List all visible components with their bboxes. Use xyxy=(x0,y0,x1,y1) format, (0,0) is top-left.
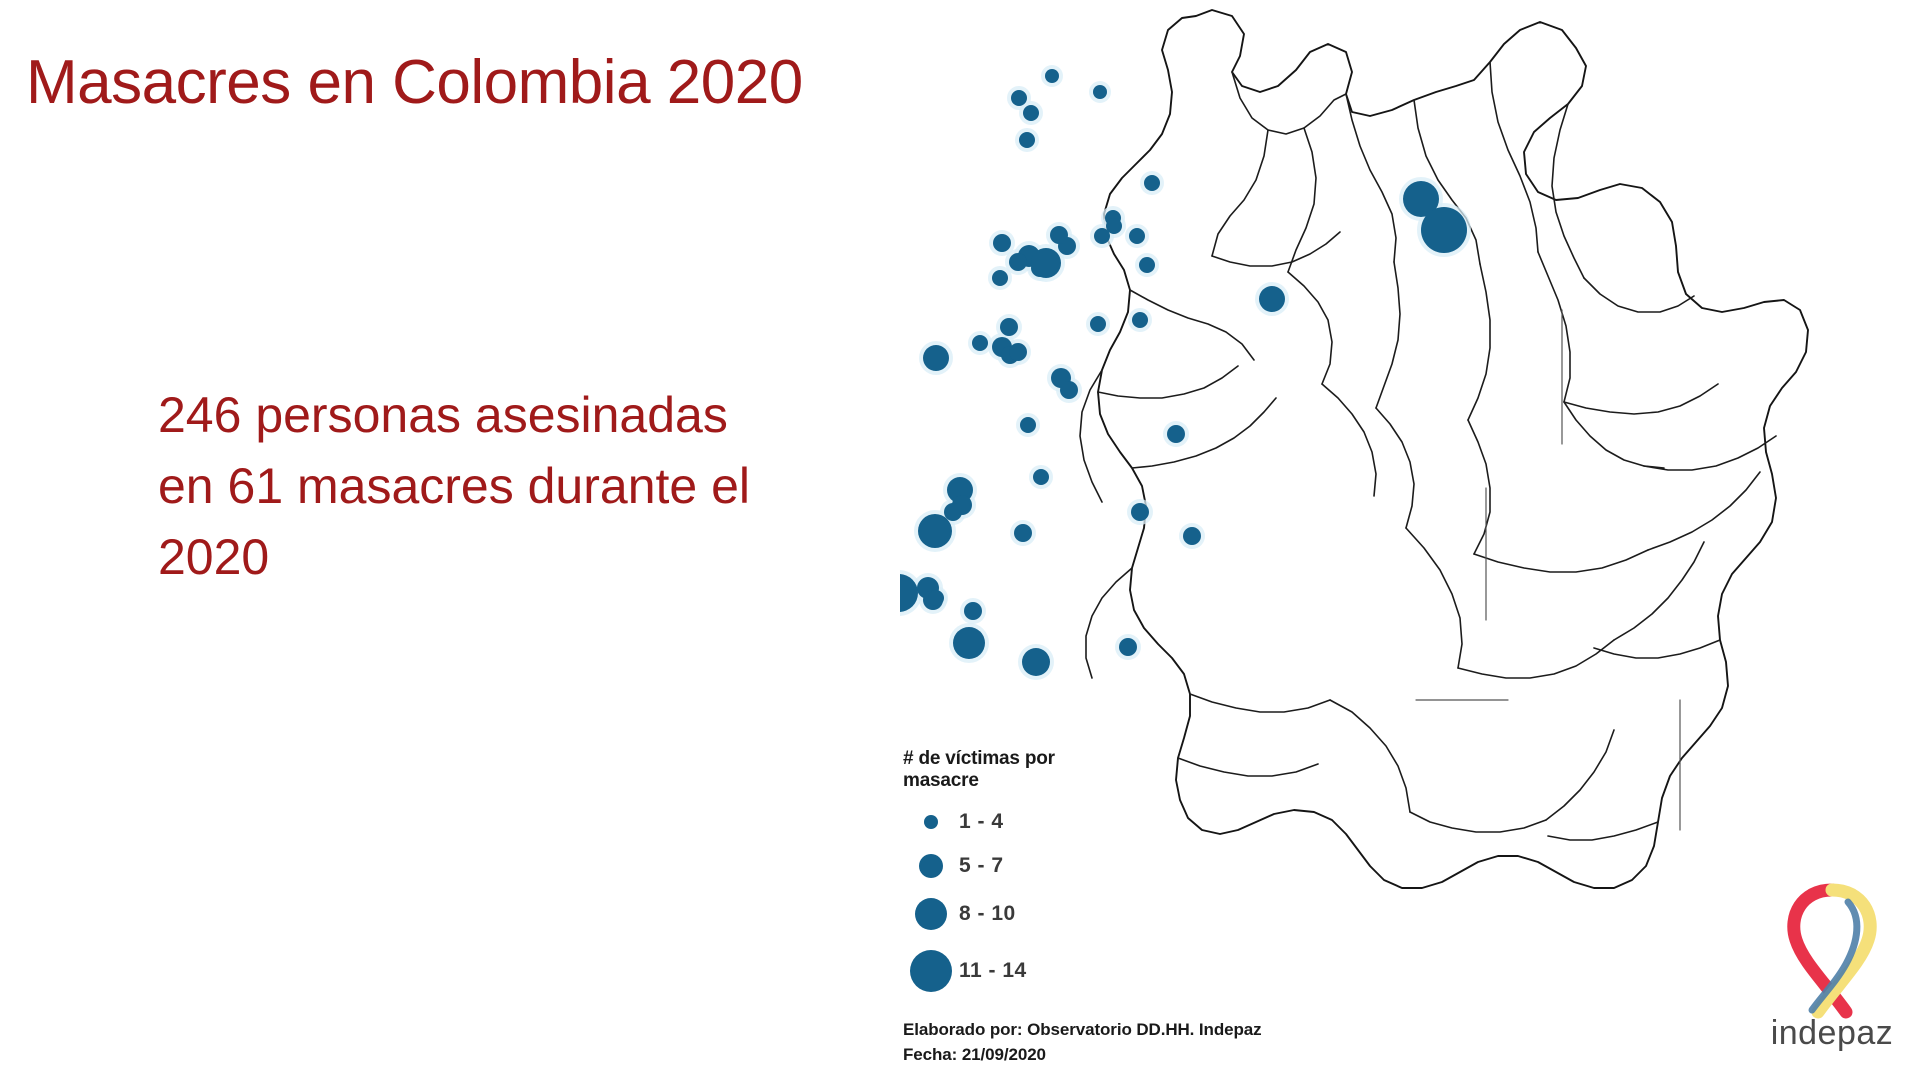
legend-items: 1 - 45 - 78 - 1011 - 14 xyxy=(903,800,1133,1002)
legend: # de víctimas por masacre 1 - 45 - 78 - … xyxy=(903,748,1133,1002)
massacre-marker xyxy=(1022,648,1050,676)
massacre-marker xyxy=(1060,381,1078,399)
massacre-marker xyxy=(1011,90,1027,106)
massacre-marker xyxy=(1019,132,1035,148)
legend-swatch-cell xyxy=(903,815,959,829)
legend-row: 5 - 7 xyxy=(903,844,1133,888)
massacre-marker xyxy=(928,590,944,606)
massacre-marker xyxy=(1000,318,1018,336)
massacre-marker xyxy=(944,503,962,521)
massacre-marker xyxy=(1119,638,1137,656)
massacre-marker xyxy=(1033,469,1049,485)
legend-dot-icon xyxy=(919,854,943,878)
credit-block: Elaborado por: Observatorio DD.HH. Indep… xyxy=(903,1018,1262,1067)
massacre-marker xyxy=(993,234,1011,252)
legend-row: 1 - 4 xyxy=(903,800,1133,844)
legend-swatch-cell xyxy=(903,950,959,992)
massacre-marker xyxy=(1094,228,1110,244)
massacre-marker xyxy=(1023,105,1039,121)
massacre-marker xyxy=(1045,69,1059,83)
massacre-marker xyxy=(1009,253,1027,271)
massacre-marker xyxy=(964,602,982,620)
massacre-marker xyxy=(1050,226,1068,244)
massacre-marker xyxy=(1014,524,1032,542)
credit-author: Elaborado por: Observatorio DD.HH. Indep… xyxy=(903,1018,1262,1043)
massacre-marker xyxy=(1031,248,1061,278)
map-department-outlines xyxy=(1080,10,1808,888)
massacre-marker xyxy=(1090,316,1106,332)
summary-statement: 246 personas asesinadas en 61 masacres d… xyxy=(158,380,778,593)
legend-row: 8 - 10 xyxy=(903,888,1133,940)
massacre-marker xyxy=(1093,85,1107,99)
ribbon-icon xyxy=(1762,872,1902,1022)
legend-swatch-cell xyxy=(903,898,959,930)
massacre-marker xyxy=(1259,286,1285,312)
massacre-marker xyxy=(923,345,949,371)
legend-swatch-cell xyxy=(903,854,959,878)
massacre-marker xyxy=(1009,343,1027,361)
massacre-marker xyxy=(1129,228,1145,244)
massacre-marker xyxy=(1183,527,1201,545)
legend-label: 5 - 7 xyxy=(959,854,1004,878)
legend-label: 1 - 4 xyxy=(959,810,1004,834)
slide-canvas: Masacres en Colombia 2020 246 personas a… xyxy=(0,0,1920,1080)
massacre-marker xyxy=(1132,312,1148,328)
massacre-marker xyxy=(1421,207,1467,253)
legend-dot-icon xyxy=(924,815,938,829)
massacre-marker xyxy=(953,627,985,659)
page-title: Masacres en Colombia 2020 xyxy=(26,50,1026,115)
credit-date: Fecha: 21/09/2020 xyxy=(903,1043,1262,1068)
massacre-marker xyxy=(1139,257,1155,273)
massacre-marker xyxy=(1020,417,1036,433)
massacre-markers xyxy=(900,65,1471,680)
massacre-marker xyxy=(992,270,1008,286)
legend-label: 11 - 14 xyxy=(959,959,1027,983)
indepaz-logo: indepaz xyxy=(1752,872,1912,1070)
legend-dot-icon xyxy=(915,898,947,930)
massacre-marker xyxy=(1167,425,1185,443)
legend-label: 8 - 10 xyxy=(959,902,1016,926)
legend-row: 11 - 14 xyxy=(903,940,1133,1002)
massacre-marker xyxy=(1131,503,1149,521)
massacre-marker xyxy=(1144,175,1160,191)
massacre-marker xyxy=(972,335,988,351)
logo-wordmark: indepaz xyxy=(1752,1014,1912,1053)
legend-dot-icon xyxy=(910,950,952,992)
legend-title: # de víctimas por masacre xyxy=(903,748,1073,792)
massacre-marker xyxy=(918,514,952,548)
